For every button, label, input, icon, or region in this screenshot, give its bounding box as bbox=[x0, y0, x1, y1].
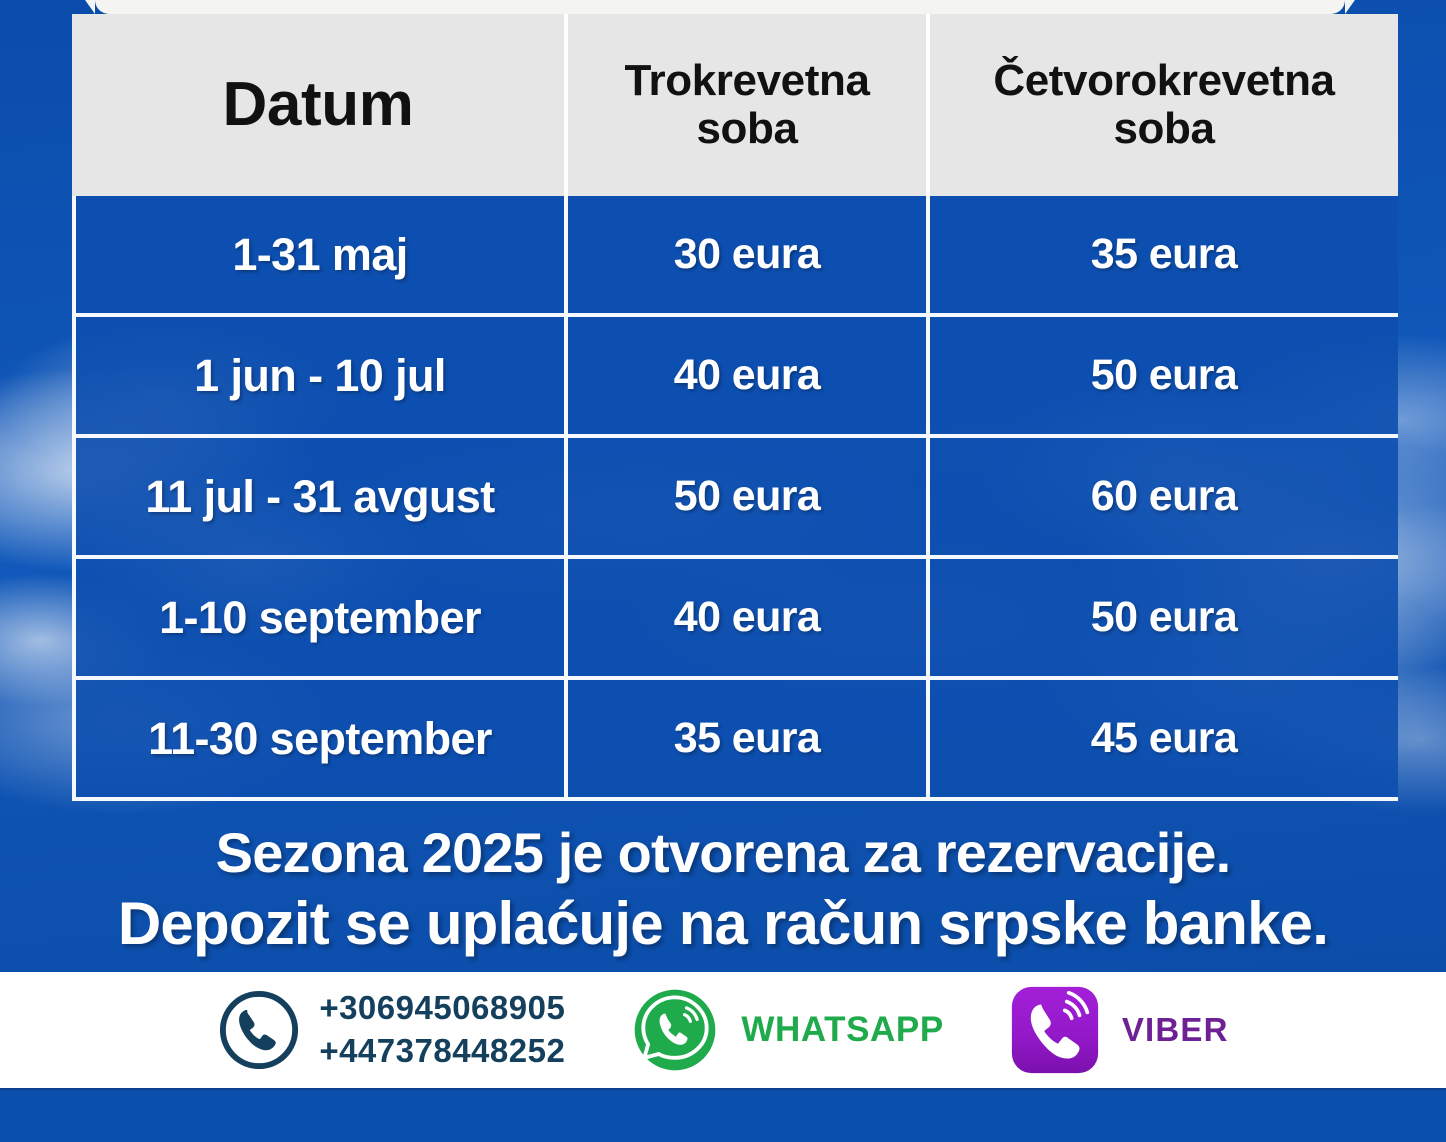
column-header-triple-room: Trokrevetna soba bbox=[568, 14, 930, 196]
cell-quad: 60 eura bbox=[930, 438, 1398, 559]
cell-date: 11-30 september bbox=[72, 680, 568, 801]
table-row: 11 jul - 31 avgust 50 eura 60 eura bbox=[72, 438, 1398, 559]
column-header-quad-line1: Četvorokrevetna bbox=[993, 56, 1334, 105]
table-row: 1-31 maj 30 eura 35 eura bbox=[72, 196, 1398, 317]
cell-date: 11 jul - 31 avgust bbox=[72, 438, 568, 559]
headline-line-2: Depozit se uplaćuje na račun srpske bank… bbox=[0, 887, 1446, 961]
phone-circle-icon bbox=[217, 988, 301, 1072]
viber-icon bbox=[1006, 981, 1104, 1079]
whatsapp-label: WHATSAPP bbox=[741, 1010, 943, 1050]
cell-triple: 40 eura bbox=[568, 317, 930, 438]
table-header-row: Datum Trokrevetna soba Četvorokrevetna s… bbox=[72, 14, 1398, 196]
cell-date: 1-10 september bbox=[72, 559, 568, 680]
phone-contact-group[interactable]: +306945068905 +447378448252 bbox=[217, 987, 565, 1073]
phone-number-secondary: +447378448252 bbox=[319, 1030, 565, 1073]
phone-number-primary: +306945068905 bbox=[319, 987, 565, 1030]
headline-line-1: Sezona 2025 je otvorena za rezervacije. bbox=[0, 818, 1446, 887]
cell-quad: 45 eura bbox=[930, 680, 1398, 801]
column-header-quad-line2: soba bbox=[1113, 104, 1214, 153]
whatsapp-icon bbox=[627, 982, 723, 1078]
bottom-blue-strip bbox=[0, 1088, 1446, 1142]
phone-numbers: +306945068905 +447378448252 bbox=[319, 987, 565, 1073]
viber-contact-group[interactable]: VIBER bbox=[1006, 981, 1229, 1079]
column-header-date: Datum bbox=[72, 14, 568, 196]
cell-triple: 35 eura bbox=[568, 680, 930, 801]
pricing-poster: Datum Trokrevetna soba Četvorokrevetna s… bbox=[0, 0, 1446, 1142]
table-row: 1 jun - 10 jul 40 eura 50 eura bbox=[72, 317, 1398, 438]
cell-quad: 50 eura bbox=[930, 317, 1398, 438]
headline-block: Sezona 2025 je otvorena za rezervacije. … bbox=[0, 818, 1446, 962]
cell-date: 1 jun - 10 jul bbox=[72, 317, 568, 438]
cell-quad: 50 eura bbox=[930, 559, 1398, 680]
column-header-date-label: Datum bbox=[223, 72, 414, 139]
whatsapp-contact-group[interactable]: WHATSAPP bbox=[627, 982, 943, 1078]
cell-date: 1-31 maj bbox=[72, 196, 568, 317]
table-row: 1-10 september 40 eura 50 eura bbox=[72, 559, 1398, 680]
price-table: Datum Trokrevetna soba Četvorokrevetna s… bbox=[72, 14, 1398, 801]
column-header-triple-line2: soba bbox=[696, 104, 797, 153]
cell-triple: 50 eura bbox=[568, 438, 930, 559]
cell-triple: 40 eura bbox=[568, 559, 930, 680]
table-row: 11-30 september 35 eura 45 eura bbox=[72, 680, 1398, 801]
column-header-triple-line1: Trokrevetna bbox=[624, 56, 869, 105]
contact-bar: +306945068905 +447378448252 WHATSAPP bbox=[0, 972, 1446, 1088]
cell-quad: 35 eura bbox=[930, 196, 1398, 317]
cell-triple: 30 eura bbox=[568, 196, 930, 317]
column-header-quad-room: Četvorokrevetna soba bbox=[930, 14, 1398, 196]
viber-label: VIBER bbox=[1122, 1011, 1229, 1049]
top-ribbon-banner bbox=[95, 0, 1345, 14]
